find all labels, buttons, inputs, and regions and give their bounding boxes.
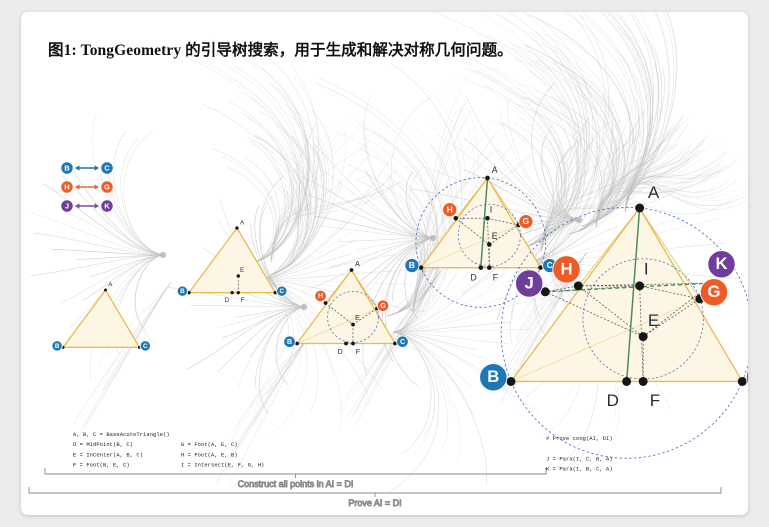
point-C bbox=[738, 377, 747, 386]
point-label-E: E bbox=[240, 267, 244, 274]
point-label-A: A bbox=[108, 282, 113, 289]
point-I bbox=[485, 216, 490, 221]
symmetry-badge-label-H: H bbox=[318, 292, 323, 300]
point-label-F: F bbox=[650, 391, 660, 410]
point-D bbox=[230, 291, 233, 294]
point-H bbox=[453, 216, 458, 221]
point-label-F: F bbox=[241, 297, 245, 304]
point-label-E: E bbox=[648, 311, 659, 330]
point-A bbox=[235, 226, 238, 229]
point-H bbox=[574, 281, 583, 290]
symmetry-badge-label-C: C bbox=[547, 260, 553, 270]
symmetry-badge-label-H: H bbox=[447, 204, 453, 214]
point-label-I: I bbox=[644, 260, 649, 279]
point-F bbox=[351, 342, 355, 346]
code-line-goal-3: K = Para(I, B, C, A) bbox=[546, 467, 613, 473]
point-label-D: D bbox=[225, 297, 230, 304]
legend-arrow-head-left bbox=[75, 165, 80, 170]
point-E bbox=[487, 242, 492, 247]
symmetry-badge-label-B: B bbox=[287, 338, 292, 346]
legend-arrow-head-right bbox=[95, 165, 100, 170]
point-label-E: E bbox=[492, 231, 498, 241]
stage-braces: Construct all points in AI = DIProve AI … bbox=[29, 468, 721, 508]
symmetry-badge-label-C: C bbox=[143, 343, 148, 350]
point-label-F: F bbox=[493, 273, 499, 283]
brace-prove-bracket bbox=[29, 487, 721, 493]
legend-pair-B-C: BC bbox=[61, 162, 113, 174]
point-D bbox=[478, 265, 483, 270]
point-B bbox=[507, 377, 516, 386]
code-line-right-2: H = Foot(A, E, B) bbox=[181, 452, 238, 458]
legend-badge-label-C: C bbox=[104, 163, 110, 172]
code-line-goal-0: # Prove cong(AI, DI) bbox=[546, 436, 613, 442]
legend-badge-label-G: G bbox=[104, 182, 110, 191]
point-label-A: A bbox=[648, 183, 660, 202]
symmetry-badge-label-B: B bbox=[487, 367, 499, 386]
figure-card: 图1: TongGeometry 的引导树搜索，用于生成和解决对称几何问题。 A… bbox=[21, 12, 748, 515]
brace-construct-label: Construct all points in AI = DI bbox=[238, 479, 354, 489]
legend-badge-label-H: H bbox=[64, 182, 69, 191]
point-D bbox=[344, 342, 348, 346]
symmetry-badge-label-B: B bbox=[409, 260, 415, 270]
point-E bbox=[351, 323, 355, 327]
point-A bbox=[104, 289, 107, 292]
point-A bbox=[485, 176, 490, 181]
base-triangle bbox=[189, 228, 275, 293]
code-line-left-2: E = InCenter(A, B, C) bbox=[73, 452, 143, 458]
code-line-left-0: A, B, C = BaseAcuteTriangle() bbox=[73, 432, 170, 438]
brace-prove-label: Prove AI = DI bbox=[348, 498, 401, 508]
construction-code-block: A, B, C = BaseAcuteTriangle()D = MidPoin… bbox=[73, 432, 613, 473]
legend-badge-label-J: J bbox=[65, 201, 69, 210]
point-label-E: E bbox=[355, 313, 360, 322]
point-I bbox=[635, 281, 644, 290]
symmetry-badge-label-K: K bbox=[715, 254, 727, 273]
code-line-left-3: F = Foot(B, E, C) bbox=[73, 463, 130, 469]
point-E bbox=[237, 274, 240, 277]
tree-node bbox=[430, 235, 436, 241]
point-A bbox=[350, 268, 354, 272]
stage-2-midpoint-incenter-foot: ADEFBC bbox=[177, 219, 287, 304]
symmetry-badge-label-C: C bbox=[280, 288, 285, 295]
symmetry-badge-label-B: B bbox=[180, 288, 185, 295]
point-label-F: F bbox=[356, 347, 361, 356]
point-F bbox=[639, 377, 648, 386]
symmetry-badge-label-G: G bbox=[380, 302, 386, 310]
tree-node bbox=[301, 304, 307, 310]
symmetry-badge-label-G: G bbox=[708, 282, 721, 301]
tree-search-figure: ABCADEFBCADEFBCGHADEFIBCGHADEFIBCGHJK BC… bbox=[21, 12, 748, 515]
brace-construct-bracket bbox=[45, 468, 546, 474]
point-label-D: D bbox=[607, 391, 619, 410]
tree-node bbox=[160, 252, 166, 258]
point-H bbox=[324, 301, 328, 305]
symmetry-badge-label-H: H bbox=[560, 259, 572, 278]
point-label-D: D bbox=[338, 347, 343, 356]
point-D bbox=[622, 377, 631, 386]
point-E bbox=[639, 332, 648, 341]
code-line-right-3: I = Intersect(E, F, G, H) bbox=[181, 463, 264, 469]
legend-badge-label-B: B bbox=[64, 163, 70, 172]
point-F bbox=[237, 291, 240, 294]
code-line-left-1: D = MidPoint(B, C) bbox=[73, 442, 133, 448]
code-line-right-1: G = Foot(A, E, C) bbox=[181, 442, 238, 448]
code-line-goal-2: J = Para(I, C, B, A) bbox=[546, 456, 613, 462]
legend-arrow-head-right bbox=[95, 184, 100, 189]
symmetry-badge-label-G: G bbox=[523, 216, 530, 226]
symmetry-pairs-legend: BCHGJK bbox=[61, 162, 113, 212]
base-triangle bbox=[63, 290, 139, 347]
symmetry-badge-label-J: J bbox=[525, 273, 534, 292]
point-label-A: A bbox=[355, 259, 360, 268]
symmetry-badge-label-C: C bbox=[400, 338, 405, 346]
legend-badge-label-K: K bbox=[104, 201, 110, 210]
point-label-A: A bbox=[240, 219, 245, 226]
symmetry-badge-label-B: B bbox=[55, 343, 60, 350]
point-A bbox=[635, 204, 644, 213]
point-label-D: D bbox=[470, 273, 476, 283]
point-label-A: A bbox=[492, 165, 498, 175]
point-label-I: I bbox=[490, 204, 492, 214]
point-F bbox=[487, 265, 492, 270]
